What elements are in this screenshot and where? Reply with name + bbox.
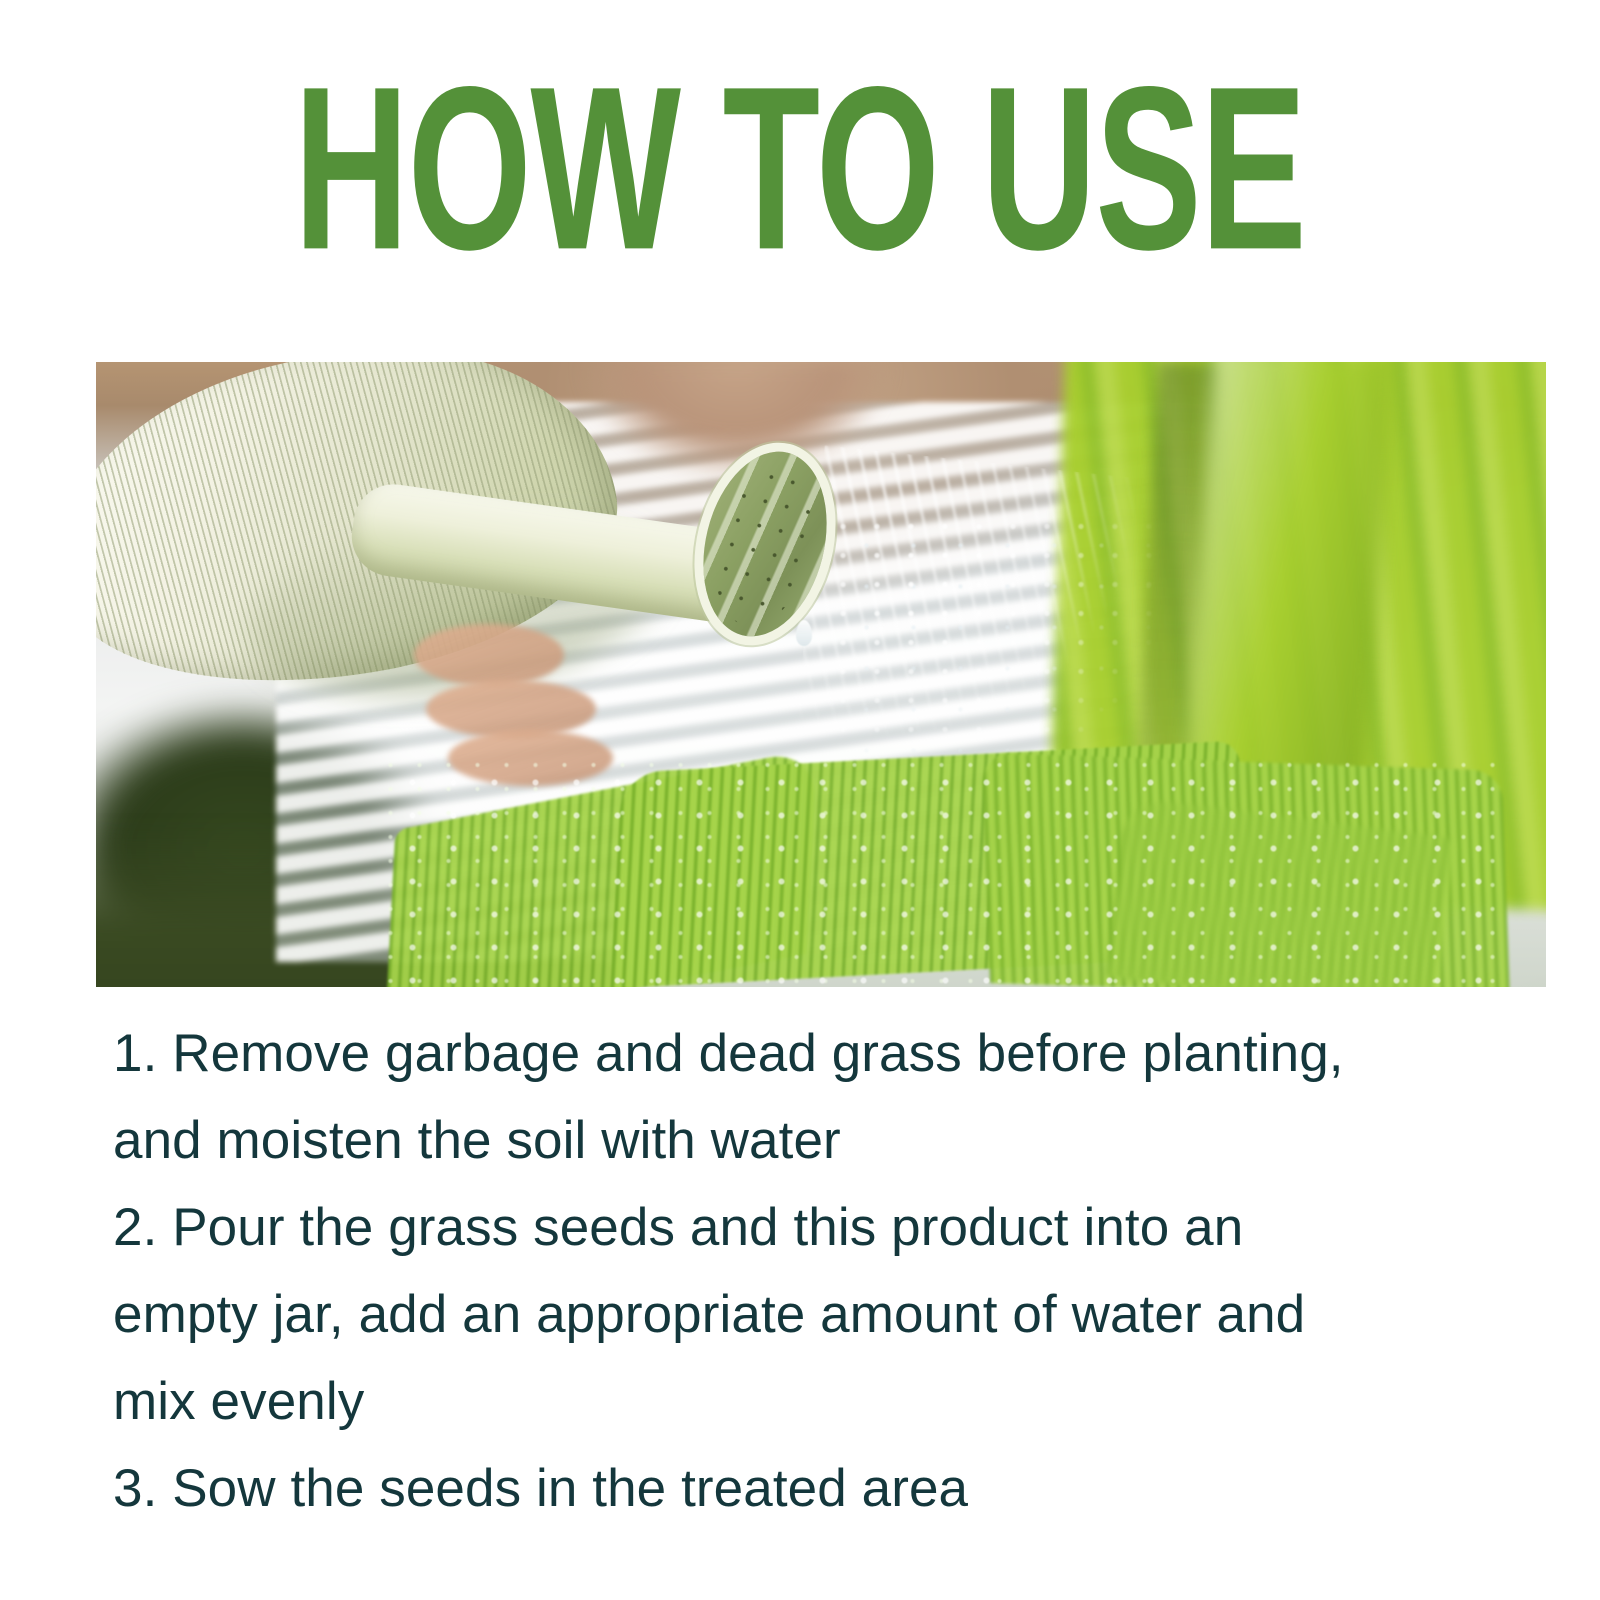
instruction-line: and moisten the soil with water xyxy=(113,1097,1543,1184)
hero-photo xyxy=(96,362,1546,987)
instructions-list: 1. Remove garbage and dead grass before … xyxy=(113,1010,1543,1532)
infographic-page: HOW TO USE xyxy=(0,0,1600,1600)
page-title: HOW TO USE xyxy=(294,74,1306,265)
instruction-line: 2. Pour the grass seeds and this product… xyxy=(113,1184,1543,1271)
photo-vignette xyxy=(96,362,1546,987)
instruction-line: 3. Sow the seeds in the treated area xyxy=(113,1445,1543,1532)
hero-photo-scene xyxy=(96,362,1546,987)
instruction-line: 1. Remove garbage and dead grass before … xyxy=(113,1010,1543,1097)
instruction-line: mix evenly xyxy=(113,1358,1543,1445)
instruction-line: empty jar, add an appropriate amount of … xyxy=(113,1271,1543,1358)
page-title-block: HOW TO USE xyxy=(0,74,1600,261)
